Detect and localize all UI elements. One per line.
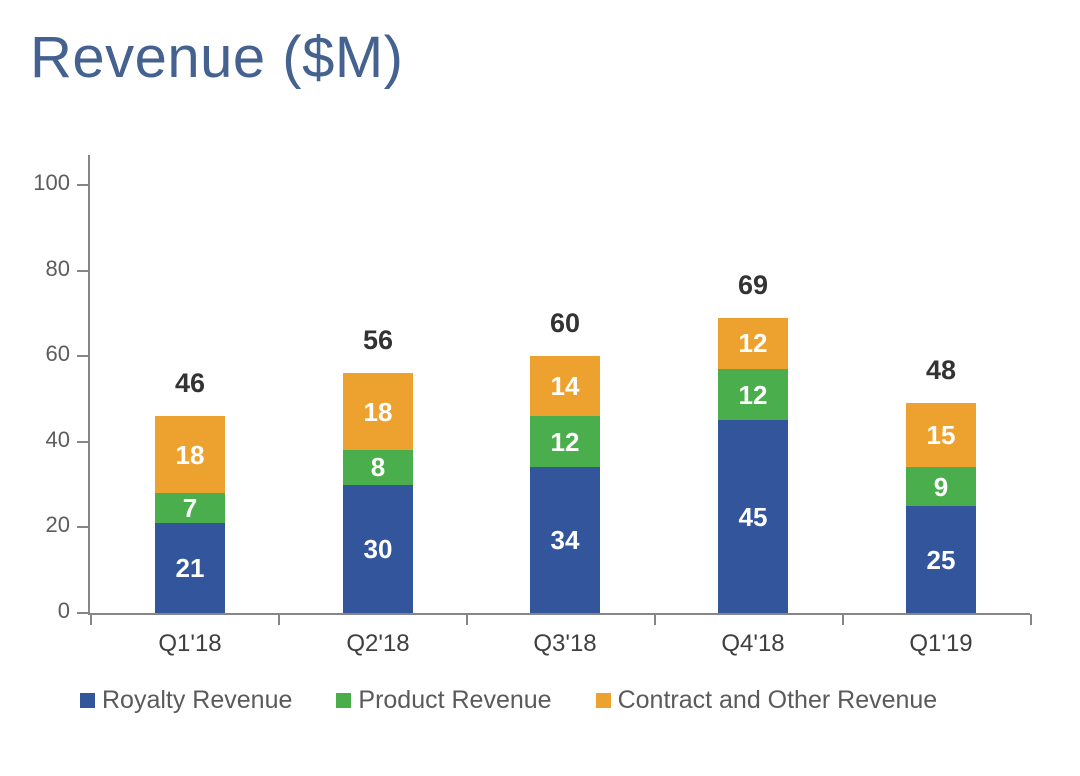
bar-stack[interactable]: 341214 <box>530 185 600 613</box>
bar-segment[interactable]: 12 <box>530 416 600 467</box>
legend-label: Royalty Revenue <box>102 686 292 715</box>
bar-segment-value-label: 25 <box>927 547 956 573</box>
x-axis-tick <box>90 614 92 625</box>
chart-plot-area: 020406080100 217184630818563412146045121… <box>0 0 1080 776</box>
bar-segment-value-label: 12 <box>551 429 580 455</box>
bar-stack[interactable]: 25915 <box>906 185 976 613</box>
x-axis-tick <box>842 614 844 625</box>
bar-segment-value-label: 7 <box>183 495 197 521</box>
y-axis-tick-label: 0 <box>0 598 70 624</box>
y-axis-tick-label: 60 <box>0 341 70 367</box>
y-axis-tick-label: 40 <box>0 427 70 453</box>
bar-segment-value-label: 30 <box>364 536 393 562</box>
legend-swatch-icon <box>80 693 95 708</box>
legend-item[interactable]: Product Revenue <box>336 686 551 715</box>
legend-item[interactable]: Royalty Revenue <box>80 686 292 715</box>
bar-segment[interactable]: 18 <box>343 373 413 450</box>
bar-segment[interactable]: 45 <box>718 420 788 613</box>
bar-total-label: 46 <box>135 368 245 399</box>
legend-swatch-icon <box>336 693 351 708</box>
x-axis-category-label: Q4'18 <box>683 630 823 658</box>
y-axis-tick <box>77 612 89 614</box>
bar-stack[interactable]: 451212 <box>718 185 788 613</box>
legend-label: Contract and Other Revenue <box>618 686 938 715</box>
bar-total-label: 69 <box>698 270 808 301</box>
bar-segment-value-label: 21 <box>176 555 205 581</box>
x-axis-category-label: Q3'18 <box>495 630 635 658</box>
y-axis-tick <box>77 441 89 443</box>
x-axis-tick <box>278 614 280 625</box>
x-axis-category-label: Q1'19 <box>871 630 1011 658</box>
y-axis-tick <box>77 526 89 528</box>
bar-segment-value-label: 8 <box>371 454 385 480</box>
bar-segment[interactable]: 7 <box>155 493 225 523</box>
x-axis-tick <box>466 614 468 625</box>
y-axis-tick-label: 80 <box>0 256 70 282</box>
bar-segment-value-label: 45 <box>739 504 768 530</box>
legend-swatch-icon <box>596 693 611 708</box>
bar-segment-value-label: 12 <box>739 382 768 408</box>
chart-legend: Royalty RevenueProduct RevenueContract a… <box>80 686 937 715</box>
x-axis-category-label: Q2'18 <box>308 630 448 658</box>
bar-segment-value-label: 12 <box>739 330 768 356</box>
bar-stack[interactable]: 30818 <box>343 185 413 613</box>
legend-label: Product Revenue <box>358 686 551 715</box>
y-axis-tick-label: 20 <box>0 512 70 538</box>
bar-segment-value-label: 18 <box>176 442 205 468</box>
x-axis-category-label: Q1'18 <box>120 630 260 658</box>
bar-segment-value-label: 18 <box>364 399 393 425</box>
y-axis-tick <box>77 270 89 272</box>
bar-segment[interactable]: 12 <box>718 369 788 420</box>
x-axis-line <box>88 613 1030 615</box>
bar-segment[interactable]: 21 <box>155 523 225 613</box>
bar-segment-value-label: 14 <box>551 373 580 399</box>
bar-segment[interactable]: 8 <box>343 450 413 484</box>
bar-segment[interactable]: 12 <box>718 318 788 369</box>
bar-segment[interactable]: 18 <box>155 416 225 493</box>
bar-total-label: 60 <box>510 308 620 339</box>
bar-segment[interactable]: 9 <box>906 467 976 506</box>
y-axis-line <box>88 155 90 615</box>
bar-segment[interactable]: 25 <box>906 506 976 613</box>
x-axis-tick <box>654 614 656 625</box>
bar-total-label: 48 <box>886 355 996 386</box>
bar-segment[interactable]: 15 <box>906 403 976 467</box>
bar-segment[interactable]: 30 <box>343 485 413 613</box>
y-axis-tick <box>77 355 89 357</box>
legend-item[interactable]: Contract and Other Revenue <box>596 686 938 715</box>
bar-total-label: 56 <box>323 325 433 356</box>
y-axis-tick-label: 100 <box>0 170 70 196</box>
y-axis-tick <box>77 184 89 186</box>
bar-segment-value-label: 34 <box>551 527 580 553</box>
bar-segment[interactable]: 34 <box>530 467 600 613</box>
bar-segment-value-label: 15 <box>927 422 956 448</box>
bar-segment-value-label: 9 <box>934 474 948 500</box>
bar-segment[interactable]: 14 <box>530 356 600 416</box>
x-axis-tick <box>1030 614 1032 625</box>
